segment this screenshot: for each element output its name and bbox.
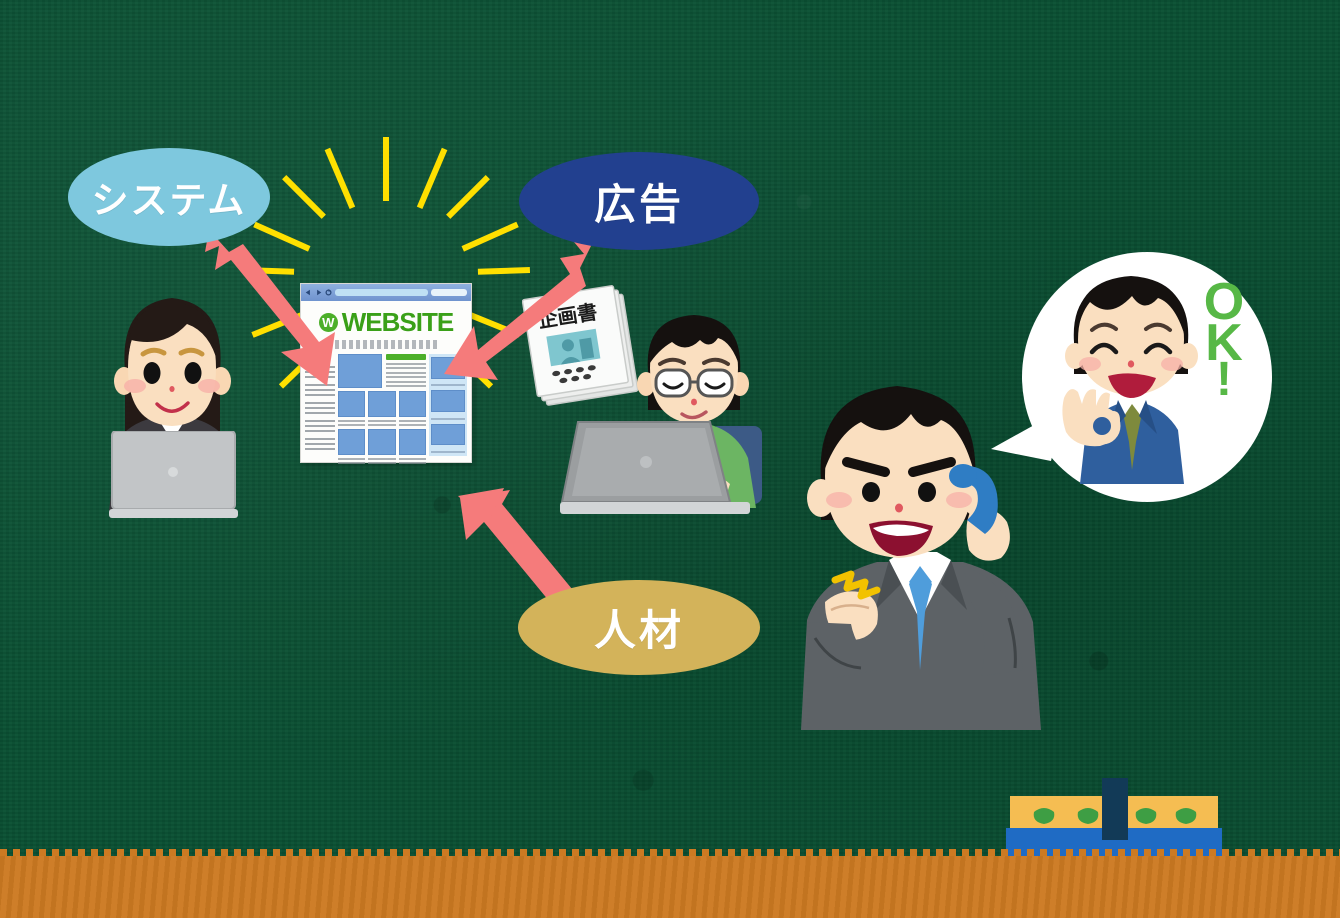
laptop-woman — [109, 431, 238, 521]
character-man-ok-gesture — [1052, 270, 1212, 488]
scene-canvas: W WEBSITE — [0, 0, 1340, 918]
ok-exclamation: ! — [1194, 359, 1254, 400]
speech-bubble: O K ! — [1022, 252, 1272, 502]
arrow-advertising-to-website — [438, 228, 628, 408]
ground-strip — [0, 856, 1340, 918]
label-system[interactable]: システム — [68, 148, 270, 246]
label-human-resources[interactable]: 人材 — [518, 580, 760, 675]
label-advertising[interactable]: 広告 — [519, 152, 759, 250]
ok-text: O K ! — [1194, 280, 1254, 401]
ok-hand-icon — [1062, 389, 1120, 446]
